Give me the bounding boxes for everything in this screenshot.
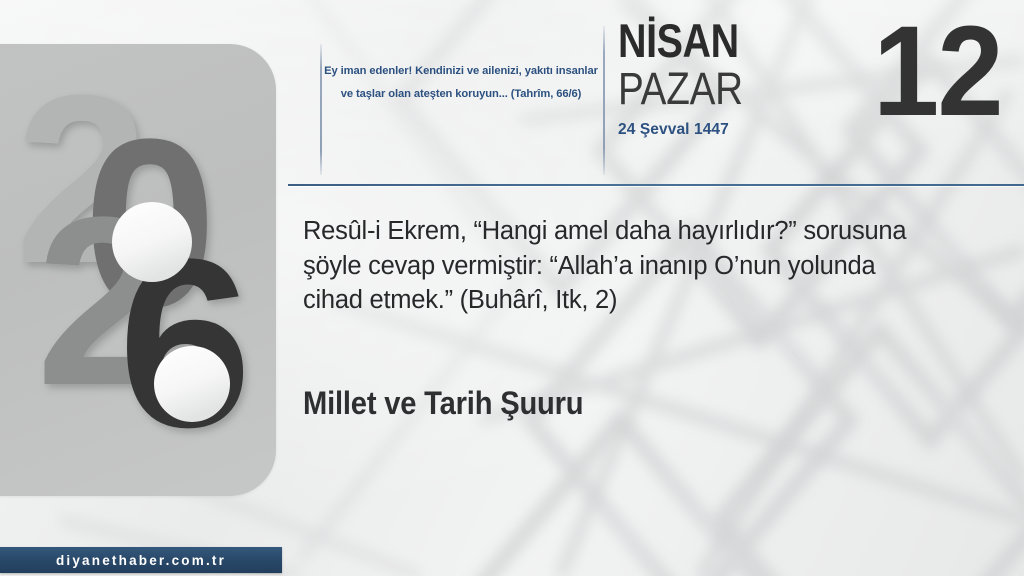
year-logo-2026: 2 0 2 6 xyxy=(0,44,300,496)
horizontal-rule xyxy=(288,184,1024,186)
verse-text: Ey iman edenler! Kendinizi ve ailenizi, … xyxy=(322,60,600,106)
weekday-label: PAZAR xyxy=(618,66,743,112)
date-block: NİSAN PAZAR 24 Şevval 1447 xyxy=(618,18,763,139)
website-label: diyanethaber.com.tr xyxy=(56,553,226,568)
website-bar[interactable]: diyanethaber.com.tr xyxy=(0,547,282,573)
calendar-page: 2 0 2 6 Ey iman edenler! Kendinizi ve ai… xyxy=(0,0,1024,576)
day-number: 12 xyxy=(873,8,1002,136)
subject-title: Millet ve Tarih Şuuru xyxy=(303,385,583,422)
month-label: NİSAN xyxy=(618,18,740,64)
hijri-date-label: 24 Şevval 1447 xyxy=(618,121,763,139)
hadith-text: Resûl-i Ekrem, “Hangi amel daha hayırlıd… xyxy=(303,214,933,318)
vertical-divider-right xyxy=(603,26,605,175)
